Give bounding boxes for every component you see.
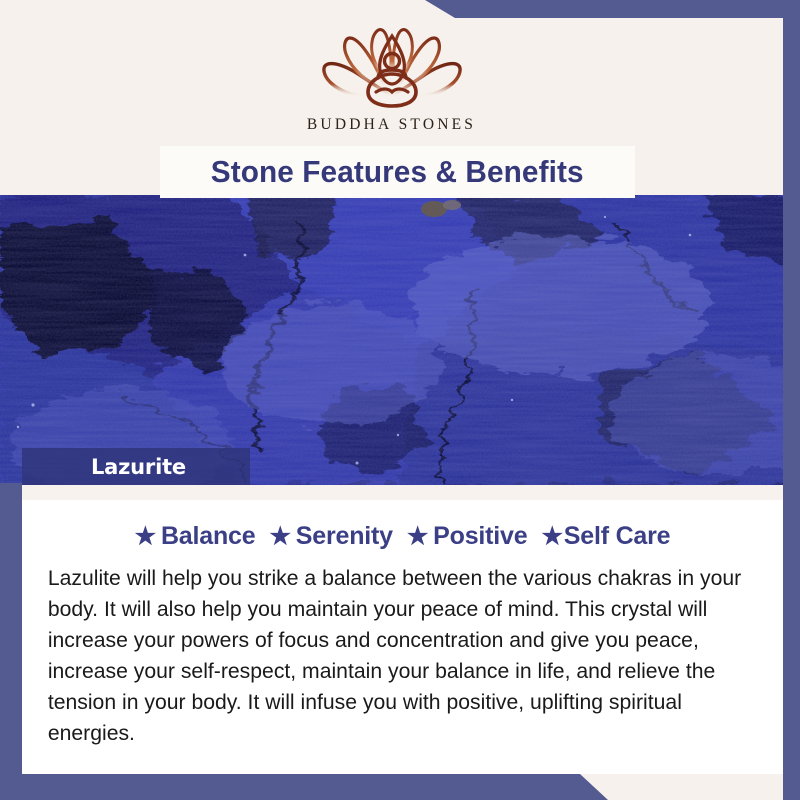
stone-benefits-poster: BUDDHA STONES Stone Features & Benefits [0,0,800,800]
stone-name-tag: Lazurite [22,448,250,485]
star-icon: ★ [135,525,156,549]
keyword-label: Balance [161,522,256,551]
keyword-label: Self Care [564,522,671,551]
brand-wordmark: BUDDHA STONES [307,116,476,134]
keyword-balance: ★ Balance [135,522,256,551]
title-banner: Stone Features & Benefits [160,146,635,198]
decor-band-right [783,0,800,800]
keyword-positive: ★ Positive [407,522,528,551]
keyword-serenity: ★ Serenity [269,522,392,551]
stone-description: Lazulite will help you strike a balance … [36,563,758,749]
star-icon: ★ [541,525,562,549]
star-icon: ★ [269,525,290,549]
stone-name-label: Lazurite [91,455,186,479]
brand-logo: BUDDHA STONES [0,22,783,134]
benefits-card: ★ Balance ★ Serenity ★ Positive ★ Self C… [22,500,783,774]
lazurite-stone-photo [0,195,800,485]
keyword-self-care: ★ Self Care [541,522,670,551]
decor-band-top-right [0,0,800,18]
keyword-list: ★ Balance ★ Serenity ★ Positive ★ Self C… [36,522,769,551]
star-icon: ★ [407,525,428,549]
decor-band-bottom-left [0,774,800,800]
lotus-meditation-figure-icon [308,22,476,114]
card-top-strip [22,485,783,500]
keyword-label: Positive [433,522,527,551]
page-title: Stone Features & Benefits [211,154,584,190]
keyword-label: Serenity [296,522,393,551]
decor-band-left [0,483,22,800]
